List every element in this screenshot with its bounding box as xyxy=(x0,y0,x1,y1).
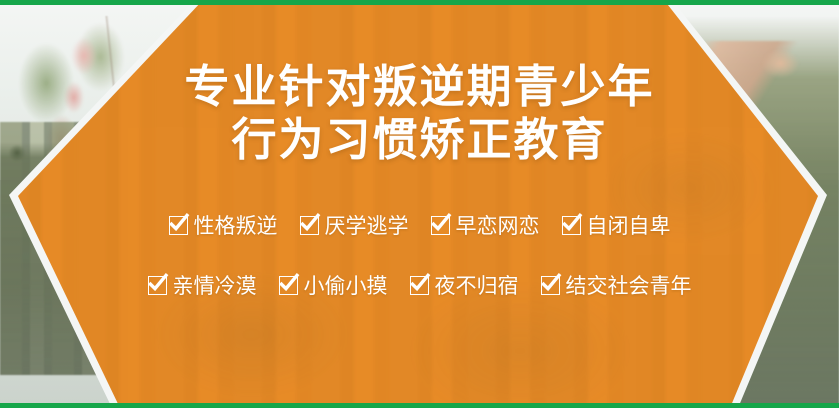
checkbox-checked-icon xyxy=(300,216,319,235)
checklist-item-label: 夜不归宿 xyxy=(435,270,519,300)
checklist-item[interactable]: 夜不归宿 xyxy=(410,270,519,300)
checkbox-checked-icon xyxy=(410,276,429,295)
checklist-item-label: 小偷小摸 xyxy=(304,270,388,300)
bottom-green-bar xyxy=(0,403,839,408)
checklist-item[interactable]: 性格叛逆 xyxy=(169,210,278,240)
checklist-item-label: 结交社会青年 xyxy=(566,270,692,300)
top-green-bar xyxy=(0,0,839,5)
checklist-item[interactable]: 厌学逃学 xyxy=(300,210,409,240)
checkbox-checked-icon xyxy=(148,276,167,295)
checklist-item[interactable]: 早恋网恋 xyxy=(431,210,540,240)
headline-line-2: 行为习惯矫正教育 xyxy=(184,113,654,166)
checkbox-checked-icon xyxy=(431,216,450,235)
feature-checklist: 性格叛逆 厌学逃学 早恋网恋 xyxy=(110,210,730,330)
checklist-item-label: 自闭自卑 xyxy=(587,210,671,240)
checkbox-checked-icon xyxy=(541,276,560,295)
promo-banner: 专业针对叛逆期青少年 行为习惯矫正教育 性格叛逆 厌学逃学 xyxy=(0,0,839,408)
checkbox-checked-icon xyxy=(562,216,581,235)
checklist-item[interactable]: 自闭自卑 xyxy=(562,210,671,240)
checklist-item[interactable]: 结交社会青年 xyxy=(541,270,692,300)
checkbox-checked-icon xyxy=(169,216,188,235)
checklist-item-label: 性格叛逆 xyxy=(194,210,278,240)
checklist-item-label: 亲情冷漠 xyxy=(173,270,257,300)
banner-content: 专业针对叛逆期青少年 行为习惯矫正教育 性格叛逆 厌学逃学 xyxy=(0,0,839,408)
checklist-item[interactable]: 小偷小摸 xyxy=(279,270,388,300)
checklist-row-1: 性格叛逆 厌学逃学 早恋网恋 xyxy=(110,210,730,240)
headline-line-1: 专业针对叛逆期青少年 xyxy=(184,60,654,113)
checklist-item-label: 早恋网恋 xyxy=(456,210,540,240)
checklist-row-2: 亲情冷漠 小偷小摸 夜不归宿 xyxy=(110,270,730,300)
headline: 专业针对叛逆期青少年 行为习惯矫正教育 xyxy=(184,60,654,166)
checkbox-checked-icon xyxy=(279,276,298,295)
checklist-item-label: 厌学逃学 xyxy=(325,210,409,240)
checklist-item[interactable]: 亲情冷漠 xyxy=(148,270,257,300)
